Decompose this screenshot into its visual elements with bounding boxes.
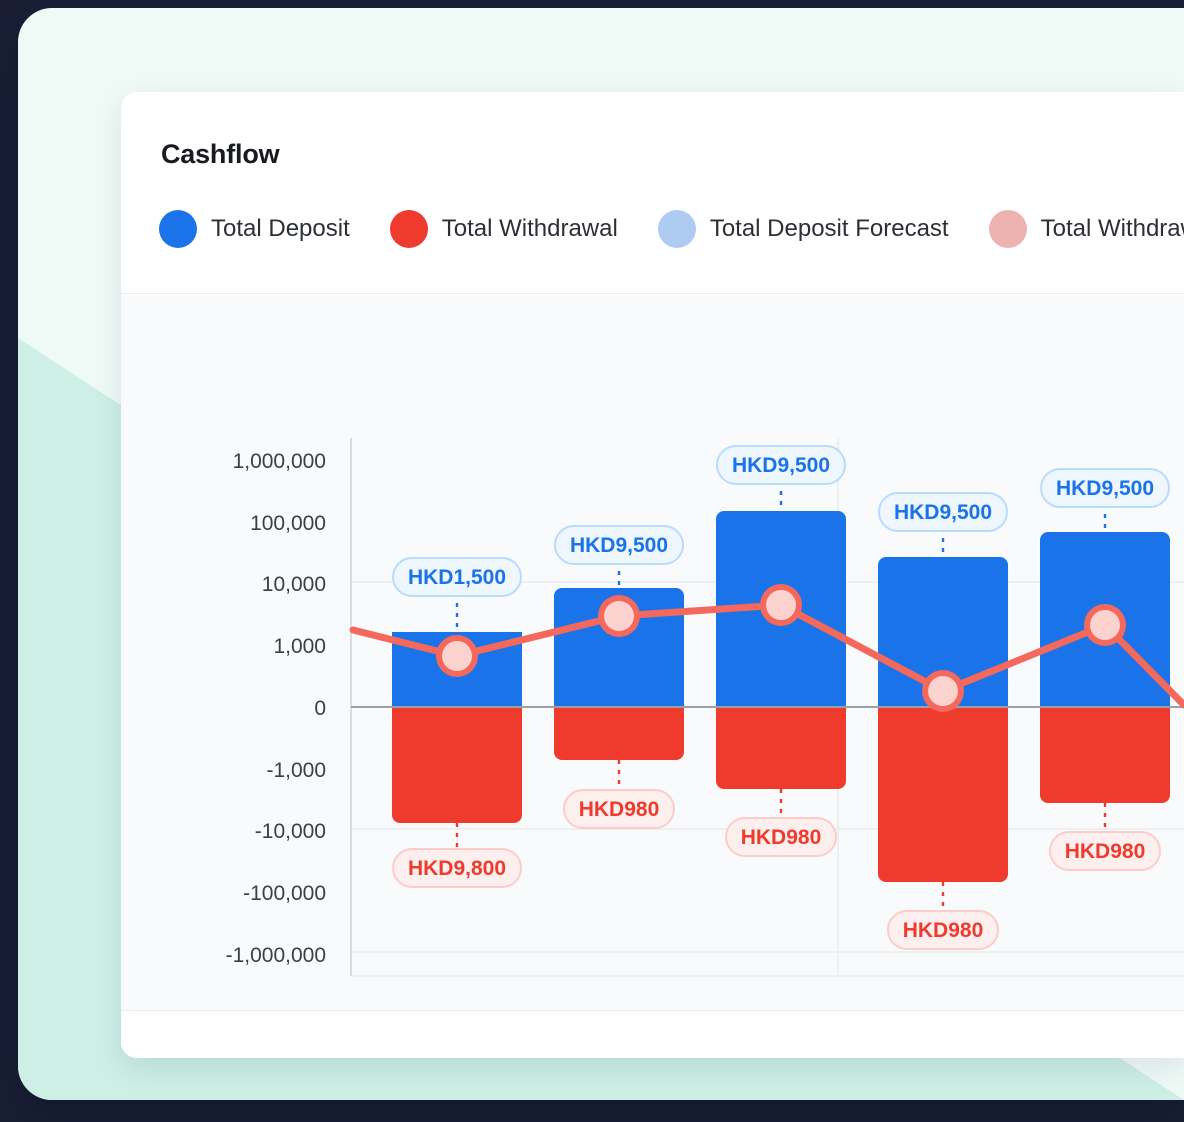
cashflow-chart[interactable]: 1,000,000 100,000 10,000 1,000 0 -1,000 … bbox=[121, 295, 1184, 1010]
legend-item-total-deposit-forecast[interactable]: Total Deposit Forecast bbox=[658, 210, 949, 248]
legend-dot-icon bbox=[159, 210, 197, 248]
legend-item-total-withdrawal[interactable]: Total Withdrawal bbox=[390, 210, 618, 248]
withdrawal-value-label: HKD9,800 bbox=[408, 857, 506, 880]
withdrawal-value-label: HKD980 bbox=[1065, 840, 1146, 863]
y-tick-label: -100,000 bbox=[243, 882, 326, 905]
withdrawal-label-apr[interactable]: HKD980 bbox=[888, 882, 998, 949]
line-marker-inner bbox=[604, 601, 634, 631]
legend-label: Total Deposit Forecast bbox=[710, 215, 949, 243]
withdrawal-value-label: HKD980 bbox=[903, 919, 984, 942]
deposit-value-label: HKD9,500 bbox=[1056, 477, 1154, 500]
deposit-label-apr[interactable]: HKD9,500 bbox=[879, 493, 1007, 557]
withdrawal-value-label: HKD980 bbox=[579, 798, 660, 821]
deposit-value-label: HKD9,500 bbox=[894, 501, 992, 524]
deposit-value-label: HKD1,500 bbox=[408, 566, 506, 589]
withdrawal-label-feb[interactable]: HKD980 bbox=[564, 760, 674, 828]
screenshot-root: Cashflow Total Deposit Total Withdrawal … bbox=[0, 0, 1184, 1122]
y-axis-ticks: 1,000,000 100,000 10,000 1,000 0 -1,000 … bbox=[226, 450, 326, 967]
legend-label: Total Deposit bbox=[211, 215, 350, 243]
app-window: Cashflow Total Deposit Total Withdrawal … bbox=[18, 8, 1184, 1100]
legend-dot-icon bbox=[390, 210, 428, 248]
line-marker-inner bbox=[928, 676, 958, 706]
deposit-label-feb[interactable]: HKD9,500 bbox=[555, 526, 683, 588]
legend-item-total-deposit[interactable]: Total Deposit bbox=[159, 210, 350, 248]
deposit-label-jan[interactable]: HKD1,500 bbox=[393, 558, 521, 632]
bar-withdrawal[interactable] bbox=[878, 707, 1008, 882]
deposit-label-mar[interactable]: HKD9,500 bbox=[717, 446, 845, 511]
deposit-value-label: HKD9,500 bbox=[732, 454, 830, 477]
y-tick-label: 1,000,000 bbox=[233, 450, 326, 473]
legend-dot-icon bbox=[658, 210, 696, 248]
withdrawal-value-label: HKD980 bbox=[741, 826, 822, 849]
y-tick-label: 1,000 bbox=[273, 635, 326, 658]
withdrawal-label-mar[interactable]: HKD980 bbox=[726, 789, 836, 856]
deposit-value-label: HKD9,500 bbox=[570, 534, 668, 557]
legend-item-total-withdrawal-forecast[interactable]: Total Withdrawal Forecast bbox=[989, 210, 1184, 248]
bar-withdrawal[interactable] bbox=[716, 707, 846, 789]
bar-group-apr[interactable] bbox=[878, 557, 1008, 882]
page-title: Cashflow bbox=[161, 139, 279, 170]
card-footer bbox=[121, 1010, 1184, 1058]
chart-body: 1,000,000 100,000 10,000 1,000 0 -1,000 … bbox=[121, 295, 1184, 1010]
line-marker-inner bbox=[766, 590, 796, 620]
legend-dot-icon bbox=[989, 210, 1027, 248]
bar-withdrawal[interactable] bbox=[392, 707, 522, 823]
y-tick-label: 100,000 bbox=[250, 512, 326, 535]
bar-group-mar[interactable] bbox=[716, 511, 846, 789]
y-tick-label: -1,000,000 bbox=[226, 944, 326, 967]
legend-label: Total Withdrawal Forecast bbox=[1041, 215, 1184, 243]
card-header: Cashflow Total Deposit Total Withdrawal … bbox=[121, 92, 1184, 294]
chart-legend: Total Deposit Total Withdrawal Total Dep… bbox=[159, 210, 1184, 248]
y-tick-label: 10,000 bbox=[262, 573, 326, 596]
line-marker-inner bbox=[1090, 610, 1120, 640]
y-tick-label: -10,000 bbox=[255, 820, 326, 843]
bar-withdrawal[interactable] bbox=[1040, 707, 1170, 803]
bar-withdrawal[interactable] bbox=[554, 707, 684, 760]
cashflow-card: Cashflow Total Deposit Total Withdrawal … bbox=[121, 92, 1184, 1058]
y-tick-label: 0 bbox=[314, 697, 326, 720]
withdrawal-label-jan[interactable]: HKD9,800 bbox=[393, 823, 521, 887]
deposit-label-may[interactable]: HKD9,500 bbox=[1041, 469, 1169, 532]
withdrawal-label-may[interactable]: HKD980 bbox=[1050, 803, 1160, 870]
y-tick-label: -1,000 bbox=[266, 759, 326, 782]
line-marker-inner bbox=[442, 641, 472, 671]
legend-label: Total Withdrawal bbox=[442, 215, 618, 243]
